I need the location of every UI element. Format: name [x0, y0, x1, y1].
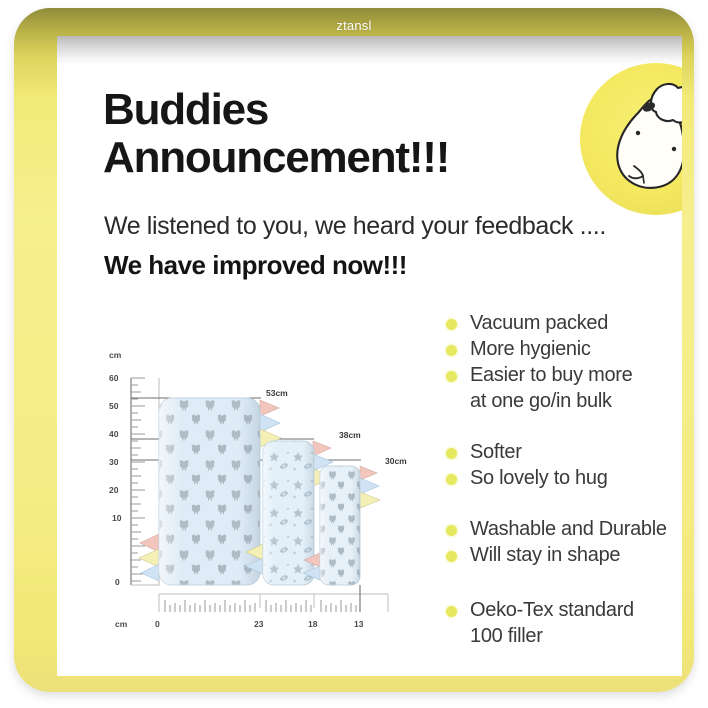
list-item-label: Easier to buy more	[470, 363, 632, 388]
list-item-label: Oeko-Tex standard	[470, 598, 634, 623]
list-item-continuation: at one go/in bulk	[470, 389, 682, 414]
list-item: Oeko-Tex standard	[446, 598, 682, 623]
list-item: More hygienic	[446, 337, 682, 362]
y-tick-20: 20	[109, 485, 119, 495]
bullet-dot-icon	[446, 319, 457, 330]
list-item-label: Will stay in shape	[470, 543, 620, 568]
pillow-medium-size-label: 38cm	[339, 430, 361, 440]
bullet-dot-icon	[446, 606, 457, 617]
list-item-label: More hygienic	[470, 337, 591, 362]
list-item: Easier to buy more	[446, 363, 682, 388]
list-item: Vacuum packed	[446, 311, 682, 336]
list-item: Will stay in shape	[446, 543, 682, 568]
list-item-label: So lovely to hug	[470, 466, 608, 491]
bullet-dot-icon	[446, 474, 457, 485]
poster-card: Buddies Announcement!!! We listened to y…	[57, 36, 682, 676]
sheep-icon	[580, 63, 682, 215]
watermark-text: ztansl	[0, 18, 708, 33]
y-tick-50: 50	[109, 401, 119, 411]
brand-logo	[580, 63, 682, 215]
y-tick-0: 0	[115, 577, 120, 587]
subtitle-primary: We listened to you, we heard your feedba…	[104, 212, 606, 241]
bullet-dot-icon	[446, 345, 457, 356]
list-item: Softer	[446, 440, 682, 465]
list-item-label: Washable and Durable	[470, 517, 667, 542]
bullet-dot-icon	[446, 525, 457, 536]
bullet-dot-icon	[446, 551, 457, 562]
feature-group-3: Washable and Durable Will stay in shape	[446, 517, 682, 568]
y-tick-40: 40	[109, 429, 119, 439]
card-top-shading	[57, 36, 682, 66]
title-line-2: Announcement!!!	[103, 134, 449, 182]
y-tick-30: 30	[109, 457, 119, 467]
size-comparison-chart: cm	[99, 336, 429, 648]
list-item-continuation: 100 filler	[470, 624, 682, 649]
x-tick-13: 13	[354, 619, 364, 629]
bullet-dot-icon	[446, 448, 457, 459]
x-tick-0: 0	[155, 619, 160, 629]
feature-group-1: Vacuum packed More hygienic Easier to bu…	[446, 311, 682, 414]
y-axis-unit-label: cm	[109, 350, 122, 360]
bullet-dot-icon	[446, 371, 457, 382]
title-line-1: Buddies	[103, 86, 449, 134]
y-tick-10: 10	[112, 513, 122, 523]
x-tick-23: 23	[254, 619, 264, 629]
list-item-label: Softer	[470, 440, 522, 465]
list-item-label: Vacuum packed	[470, 311, 608, 336]
list-item: Washable and Durable	[446, 517, 682, 542]
x-axis-unit-label: cm	[115, 619, 128, 629]
chart-svg: cm	[99, 336, 429, 648]
subtitle-emphasis: We have improved now!!!	[104, 250, 407, 281]
pillow-large-size-label: 53cm	[266, 388, 288, 398]
feature-group-2: Softer So lovely to hug	[446, 440, 682, 491]
x-tick-18: 18	[308, 619, 318, 629]
pillow-small-size-label: 30cm	[385, 456, 407, 466]
feature-list: Vacuum packed More hygienic Easier to bu…	[446, 311, 682, 675]
y-tick-60: 60	[109, 373, 119, 383]
page-title: Buddies Announcement!!!	[103, 86, 449, 182]
feature-group-4: Oeko-Tex standard 100 filler	[446, 598, 682, 649]
poster-frame: Buddies Announcement!!! We listened to y…	[14, 8, 694, 692]
list-item: So lovely to hug	[446, 466, 682, 491]
